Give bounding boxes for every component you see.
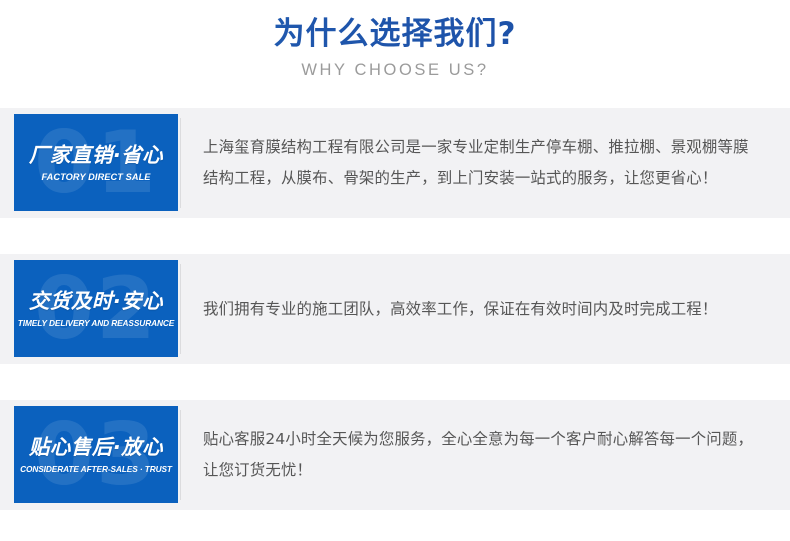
badge-title-cn: 贴心售后·放心 (29, 434, 163, 460)
feature-badge-03: 03 贴心售后·放心 CONSIDERATE AFTER-SALES · TRU… (14, 406, 178, 503)
badge-title-cn: 厂家直销·省心 (29, 142, 163, 168)
badge-title-cn: 交货及时·安心 (29, 288, 163, 314)
feature-row: 01 厂家直销·省心 FACTORY DIRECT SALE 上海玺育膜结构工程… (0, 108, 790, 218)
why-choose-us-page: 为什么选择我们? WHY CHOOSE US? 01 厂家直销·省心 FACTO… (0, 0, 790, 541)
feature-description: 上海玺育膜结构工程有限公司是一家专业定制生产停车棚、推拉棚、景观棚等膜结构工程，… (181, 108, 790, 218)
feature-description-text: 我们拥有专业的施工团队，高效率工作，保证在有效时间内及时完成工程！ (203, 294, 718, 325)
feature-description: 我们拥有专业的施工团队，高效率工作，保证在有效时间内及时完成工程！ (181, 254, 790, 364)
feature-description-text: 贴心客服24小时全天候为您服务，全心全意为每一个客户耐心解答每一个问题，让您订货… (203, 424, 764, 486)
page-header: 为什么选择我们? WHY CHOOSE US? (0, 0, 790, 80)
feature-badge-01: 01 厂家直销·省心 FACTORY DIRECT SALE (14, 114, 178, 211)
feature-badge-02: 02 交货及时·安心 TIMELY DELIVERY AND REASSURAN… (14, 260, 178, 357)
page-title: 为什么选择我们? (0, 14, 790, 54)
badge-title-en: FACTORY DIRECT SALE (41, 171, 150, 184)
feature-list: 01 厂家直销·省心 FACTORY DIRECT SALE 上海玺育膜结构工程… (0, 108, 790, 510)
feature-row: 03 贴心售后·放心 CONSIDERATE AFTER-SALES · TRU… (0, 400, 790, 510)
feature-description: 贴心客服24小时全天候为您服务，全心全意为每一个客户耐心解答每一个问题，让您订货… (181, 400, 790, 510)
page-subtitle: WHY CHOOSE US? (0, 61, 790, 80)
feature-description-text: 上海玺育膜结构工程有限公司是一家专业定制生产停车棚、推拉棚、景观棚等膜结构工程，… (203, 132, 764, 194)
badge-title-en: TIMELY DELIVERY AND REASSURANCE (18, 317, 174, 330)
feature-row: 02 交货及时·安心 TIMELY DELIVERY AND REASSURAN… (0, 254, 790, 364)
badge-title-en: CONSIDERATE AFTER-SALES · TRUST (20, 463, 172, 476)
